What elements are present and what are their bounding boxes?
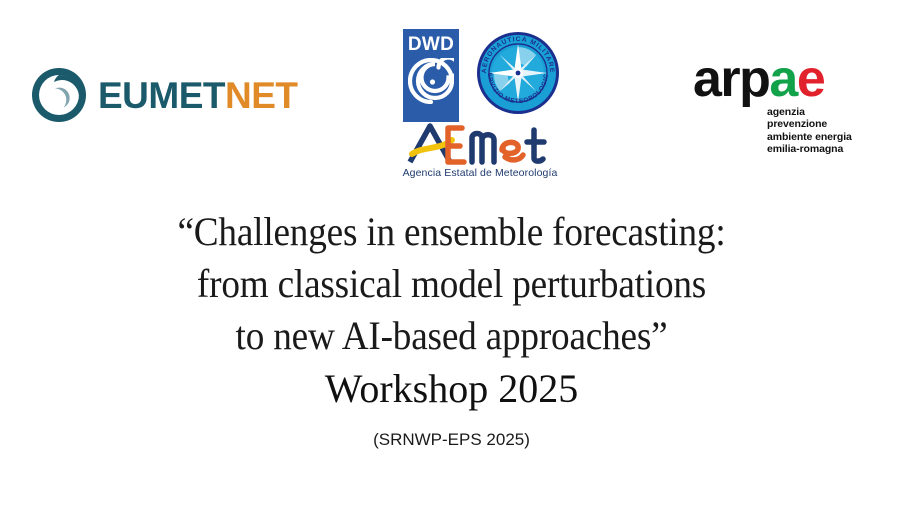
title-subtitle: (SRNWP-EPS 2025) (0, 428, 903, 452)
title-slide: EUMETNET DWD (0, 0, 903, 512)
logo-dwd: DWD (403, 29, 459, 122)
logo-arpae: arpae agenzia prevenzione ambiente energ… (693, 56, 852, 155)
eumetnet-swirl-icon (30, 66, 88, 124)
arpae-subtitle-line-3: ambiente energia (767, 131, 852, 143)
title-line-workshop: Workshop 2025 (0, 362, 903, 416)
arpae-subtitle-line-4: emilia-romagna (767, 143, 852, 155)
aemet-wordmark-icon (404, 120, 556, 166)
dwd-spiral-icon (408, 58, 454, 104)
arpae-word-green: a (769, 50, 796, 108)
arpae-subtitle: agenzia prevenzione ambiente energia emi… (767, 106, 852, 156)
arpae-word-red: e (797, 50, 824, 108)
arpae-word-black: arp (693, 50, 769, 108)
logo-band: EUMETNET DWD (0, 0, 903, 195)
dwd-wordmark: DWD (408, 35, 454, 54)
title-line-1: “Challenges in ensemble forecasting: (32, 206, 872, 258)
arpae-wordmark: arpae (693, 56, 852, 104)
eumetnet-word-part-1: EUMET (98, 75, 225, 116)
eumetnet-wordmark: EUMETNET (98, 77, 298, 114)
logo-eumetnet: EUMETNET (30, 66, 298, 124)
title-line-2: from classical model perturbations (32, 258, 872, 310)
aemet-caption: Agencia Estatal de Meteorología (400, 167, 560, 179)
logo-aeronautica-militare: AERONAUTICA MILITARE SERVIZIO METEOROLOG… (476, 31, 560, 115)
eumetnet-word-part-2: NET (225, 75, 298, 116)
arpae-subtitle-line-2: prevenzione (767, 118, 852, 130)
title-block: “Challenges in ensemble forecasting: fro… (0, 206, 903, 452)
logo-aemet: Agencia Estatal de Meteorología (400, 120, 560, 179)
title-line-3: to new AI-based approaches” (32, 310, 872, 362)
